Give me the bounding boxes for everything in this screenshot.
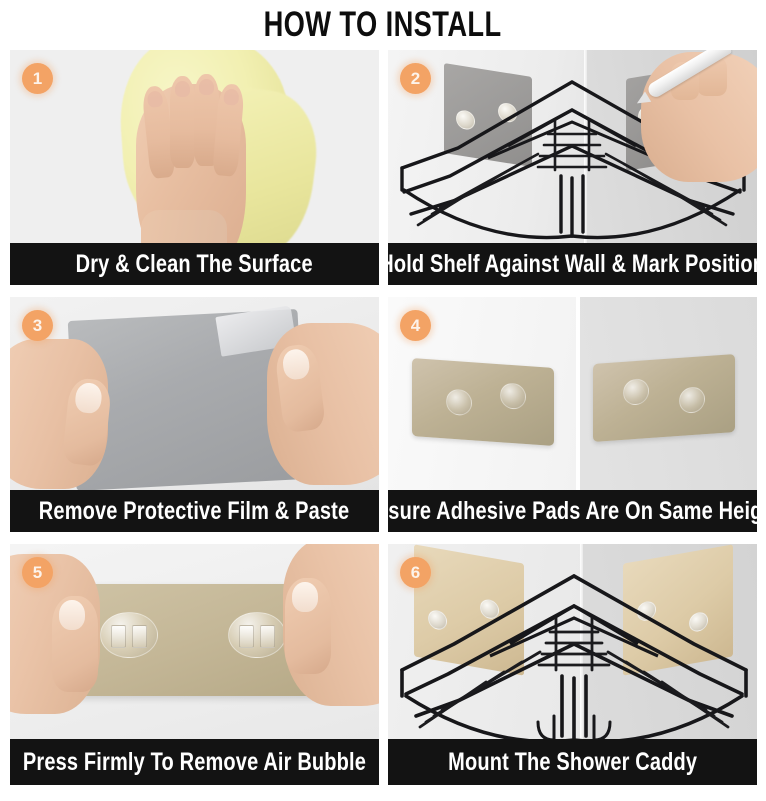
page-title: HOW TO INSTALL [264,5,502,45]
step-badge-1: 1 [22,63,53,94]
steps-grid: 1 Dry & Clean The Surface [0,50,766,801]
step-caption-text-2: Hold Shelf Against Wall & Mark Position [388,250,757,279]
finger [170,76,195,168]
step-panel-1: 1 Dry & Clean The Surface [10,50,379,285]
thumbnail [281,348,310,381]
fingernail [223,89,239,106]
fingernail [175,81,190,97]
step-panel-5: 5 Press Firmly To Remove Air Bubble [10,544,379,785]
mount-boss [679,386,705,414]
step-badge-2: 2 [400,63,431,94]
right-thumb [285,578,331,674]
hook-clip [111,625,126,648]
step-caption-bar-2: Hold Shelf Against Wall & Mark Position [388,243,757,285]
step-caption-bar-1: Dry & Clean The Surface [10,243,379,285]
adhesive-pad-right [593,354,735,442]
step-caption-text-4: Ensure Adhesive Pads Are On Same Height [388,497,757,526]
mount-boss [500,382,526,410]
step-caption-text-1: Dry & Clean The Surface [76,250,313,279]
fingernail [199,79,214,95]
mount-boss-left [100,612,158,658]
step-panel-4: 4 Ensure Adhesive Pads Are On Same Heigh… [388,297,757,532]
page-header: HOW TO INSTALL [0,0,766,50]
thumbnail [74,382,103,415]
adhesive-pad-left [412,358,554,446]
hook-clip [239,625,254,648]
step-badge-3: 3 [22,310,53,341]
step-caption-bar-6: Mount The Shower Caddy [388,739,757,785]
step-badge-5: 5 [22,557,53,588]
step-badge-4: 4 [400,310,431,341]
mount-boss [623,378,649,406]
step-panel-3: 3 Remove Protective Film & Paste [10,297,379,532]
thumbnail [292,582,318,612]
mount-boss [446,388,472,416]
fingernail [147,90,164,107]
step-caption-bar-4: Ensure Adhesive Pads Are On Same Height [388,490,757,532]
hook-clip [132,625,147,648]
step-panel-6: 6 Mount The Shower Caddy [388,544,757,785]
step-caption-text-5: Press Firmly To Remove Air Bubble [23,748,366,777]
step-caption-text-3: Remove Protective Film & Paste [39,497,349,526]
hook-clip [260,625,275,648]
thumbnail [59,600,85,630]
left-thumb [52,596,98,692]
step-panel-2: 2 Hold Shelf Against Wall & Mark Positio… [388,50,757,285]
step-caption-bar-3: Remove Protective Film & Paste [10,490,379,532]
step-caption-bar-5: Press Firmly To Remove Air Bubble [10,739,379,785]
step-caption-text-6: Mount The Shower Caddy [448,748,697,777]
step-badge-6: 6 [400,557,431,588]
mount-boss-right [228,612,286,658]
